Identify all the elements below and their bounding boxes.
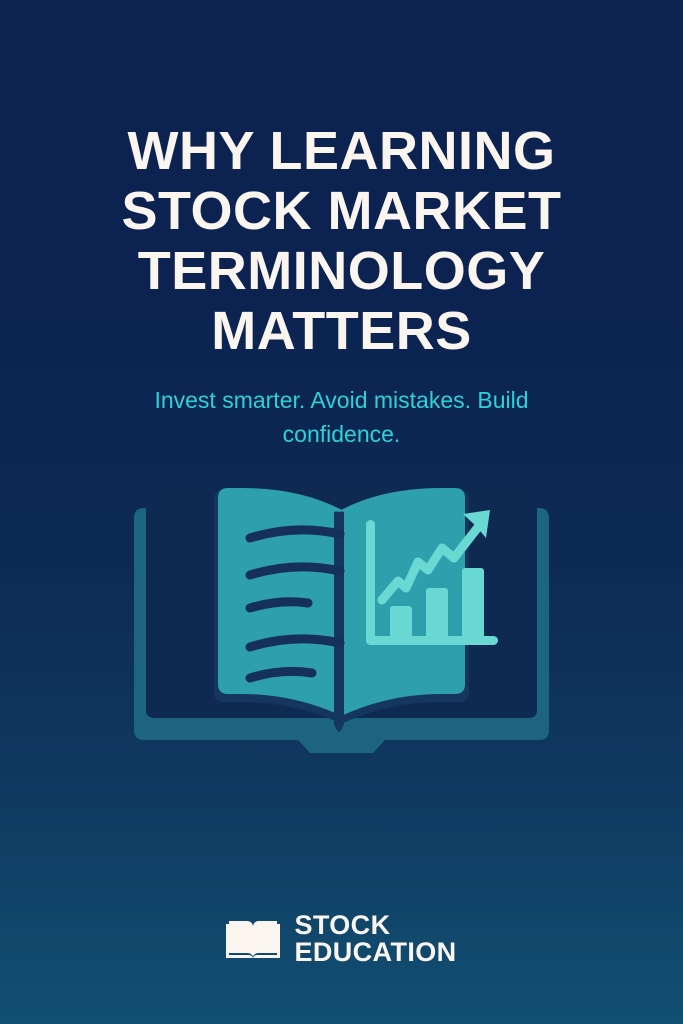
poster-canvas: WHY LEARNING STOCK MARKET TERMINOLOGY MA… [0, 0, 683, 1024]
logo-line-2: EDUCATION [294, 939, 456, 966]
chart-bar-1 [390, 606, 412, 638]
logo-wordmark: STOCK EDUCATION [294, 912, 456, 966]
title-block: WHY LEARNING STOCK MARKET TERMINOLOGY MA… [0, 121, 683, 451]
footer-logo: STOCK EDUCATION [0, 912, 683, 966]
chart-bar-3 [462, 568, 484, 638]
open-book-icon [226, 917, 280, 962]
page-subtitle: Invest smarter. Avoid mistakes. Build co… [0, 383, 683, 451]
book-illustration [126, 478, 557, 768]
book-spine [334, 512, 344, 733]
chart-y-axis [366, 520, 375, 645]
logo-line-1: STOCK [294, 910, 390, 940]
chart-bar-2 [426, 588, 448, 638]
open-book-graphic [126, 478, 557, 768]
page-title: WHY LEARNING STOCK MARKET TERMINOLOGY MA… [0, 121, 683, 361]
